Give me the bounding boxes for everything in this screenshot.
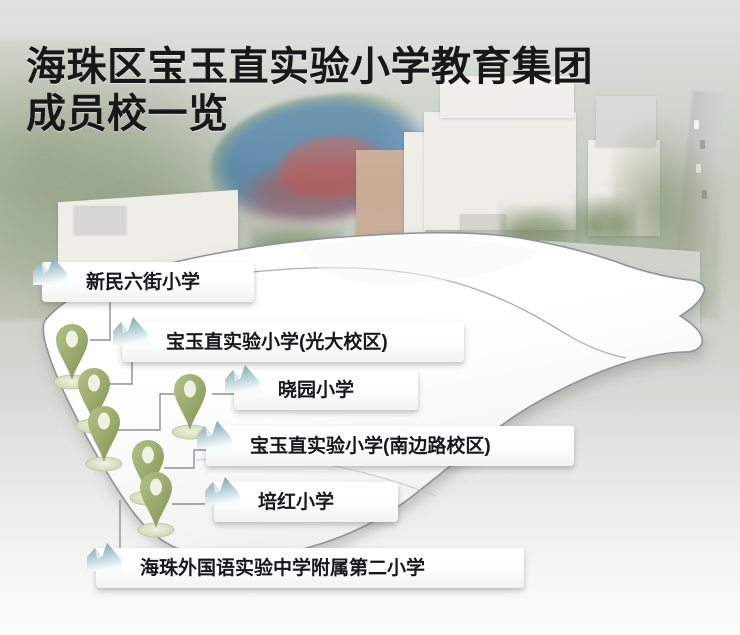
mountain-peak-icon bbox=[221, 359, 267, 399]
school-label-text: 海珠外国语实验中学附属第二小学 bbox=[140, 559, 425, 578]
school-label-text: 宝玉直实验小学(光大校区) bbox=[166, 333, 388, 352]
school-label-text: 晓园小学 bbox=[278, 381, 354, 400]
infographic-poster: 海珠区宝玉直实验小学教育集团 成员校一览 bbox=[0, 0, 740, 635]
school-label-haiwai-fushu-di2[interactable]: 海珠外国语实验中学附属第二小学 bbox=[96, 548, 524, 588]
school-label-peihong[interactable]: 培红小学 bbox=[214, 482, 398, 522]
map-pin-3[interactable] bbox=[82, 400, 126, 474]
mountain-peak-icon bbox=[201, 471, 247, 511]
school-label-text: 新民六街小学 bbox=[86, 273, 200, 292]
school-label-text: 宝玉直实验小学(南边路校区) bbox=[250, 437, 491, 456]
mountain-peak-icon bbox=[29, 251, 75, 291]
map-pin-6[interactable] bbox=[134, 466, 178, 540]
pin-hole bbox=[184, 381, 196, 398]
pin-hole bbox=[66, 331, 78, 348]
pin-hole bbox=[142, 447, 154, 464]
school-label-baoyuzhi-nanbianlu[interactable]: 宝玉直实验小学(南边路校区) bbox=[206, 426, 574, 466]
pin-hole bbox=[150, 479, 162, 496]
page-title: 海珠区宝玉直实验小学教育集团 成员校一览 bbox=[26, 43, 716, 137]
school-label-text: 培红小学 bbox=[258, 493, 334, 512]
school-label-xiaoyuan[interactable]: 晓园小学 bbox=[234, 370, 418, 410]
mountain-peak-icon bbox=[193, 415, 239, 455]
school-label-baoyuzhi-guangda[interactable]: 宝玉直实验小学(光大校区) bbox=[122, 322, 464, 362]
school-label-xinmin-liujie[interactable]: 新民六街小学 bbox=[42, 262, 254, 302]
mountain-peak-icon bbox=[83, 537, 129, 577]
pin-hole bbox=[88, 375, 100, 392]
mountain-peak-icon bbox=[109, 311, 155, 351]
pin-hole bbox=[98, 413, 110, 430]
